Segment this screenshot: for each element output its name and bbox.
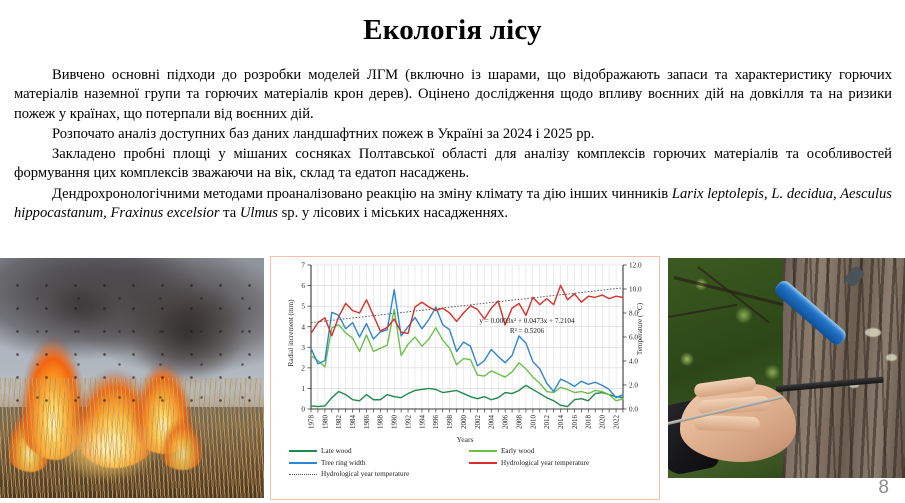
legend-item-hydro-temp: Hydrological year temperature — [469, 459, 649, 467]
paragraph-2: Розпочато аналіз доступних баз даних лан… — [14, 125, 892, 144]
svg-text:2012: 2012 — [543, 415, 551, 430]
media-row: 01234567 0.02.04.06.08.010.012.0 1978198… — [0, 258, 905, 503]
ember-particles — [0, 268, 264, 413]
svg-text:1992: 1992 — [404, 415, 412, 430]
dendrochronology-chart-panel: 01234567 0.02.04.06.08.010.012.0 1978198… — [270, 256, 660, 500]
legend-label-early-wood: Early wood — [501, 447, 534, 455]
legend-item-early-wood: Early wood — [469, 447, 649, 455]
page-title: Екологія лісу — [0, 14, 905, 47]
svg-text:4: 4 — [301, 323, 305, 331]
legend-swatch-hydro-temp — [469, 462, 497, 464]
regression-equation: y = 0.0003x² + 0.0473x + 7.2104 — [447, 317, 607, 327]
legend-label-hydro-temp: Hydrological year temperature — [501, 459, 589, 467]
lichen-patch — [886, 354, 897, 361]
legend-item-hydro-temp-trend: Hydrological year temperature — [289, 470, 649, 478]
chart-equation-annotation: y = 0.0003x² + 0.0473x + 7.2104 R² = 0.5… — [447, 317, 607, 336]
y2-axis-title: Temperature ( °C) — [636, 269, 644, 389]
svg-text:1990: 1990 — [391, 415, 399, 430]
lichen-patch — [865, 328, 881, 337]
x-axis-title: Years — [271, 435, 659, 444]
finger — [694, 415, 760, 432]
legend-item-tree-ring-width: Tree ring width — [289, 459, 469, 467]
svg-text:1986: 1986 — [363, 415, 371, 430]
svg-text:2008: 2008 — [515, 415, 523, 430]
svg-text:0: 0 — [301, 406, 305, 414]
svg-text:2002: 2002 — [474, 415, 482, 430]
increment-borer-photo — [668, 258, 905, 478]
svg-text:1982: 1982 — [335, 415, 343, 430]
legend-swatch-early-wood — [469, 450, 497, 452]
legend-row-2: Tree ring width Hydrological year temper… — [289, 459, 649, 467]
paragraph-1: Вивчено основні підходи до розробки моде… — [14, 66, 892, 124]
legend-swatch-hydro-temp-trend — [289, 474, 317, 475]
svg-text:7: 7 — [301, 262, 305, 270]
y-axis-tick-labels: 01234567 — [301, 262, 305, 414]
svg-text:2016: 2016 — [571, 415, 579, 430]
paragraph-4-mid: та — [220, 205, 240, 221]
page-number: 8 — [878, 477, 889, 499]
legend-label-hydro-temp-trend: Hydrological year temperature — [321, 470, 409, 478]
svg-text:2: 2 — [301, 364, 305, 372]
svg-text:2018: 2018 — [585, 415, 593, 430]
body-text-block: Вивчено основні підходи до розробки моде… — [14, 66, 892, 223]
svg-text:2020: 2020 — [599, 415, 607, 430]
svg-text:1980: 1980 — [321, 415, 329, 430]
legend-swatch-tree-ring-width — [289, 462, 317, 464]
paragraph-4: Дендрохронологічними методами проаналізо… — [14, 185, 892, 224]
paragraph-3: Закладено пробні площі у мішаних сосняка… — [14, 145, 892, 184]
chart-inner: 01234567 0.02.04.06.08.010.012.0 1978198… — [271, 257, 659, 499]
r-squared-value: R² = 0.5206 — [447, 327, 607, 337]
svg-text:1994: 1994 — [418, 415, 426, 430]
svg-text:2010: 2010 — [529, 415, 537, 430]
legend-item-late-wood: Late wood — [289, 447, 469, 455]
svg-text:2000: 2000 — [460, 415, 468, 430]
legend-row-3: Hydrological year temperature — [289, 470, 649, 478]
paragraph-4-lead: Дендрохронологічними методами проаналізо… — [52, 186, 672, 202]
svg-text:1984: 1984 — [349, 415, 357, 430]
x-axis-tick-labels: 1978198019821984198619881990199219941996… — [307, 415, 620, 430]
chart-svg: 01234567 0.02.04.06.08.010.012.0 1978198… — [271, 257, 661, 439]
y-axis-title: Radial increment (mm) — [287, 273, 295, 393]
slide-root: Екологія лісу Вивчено основні підходи до… — [0, 0, 905, 503]
grassland-wildfire-photo — [0, 258, 264, 498]
tree-trunk — [783, 258, 905, 478]
chart-legend: Late wood Early wood Tree ring width — [289, 447, 649, 482]
svg-text:0.0: 0.0 — [629, 406, 638, 414]
svg-text:1996: 1996 — [432, 415, 440, 430]
legend-label-tree-ring-width: Tree ring width — [321, 459, 365, 467]
svg-text:1998: 1998 — [446, 415, 454, 430]
svg-text:2014: 2014 — [557, 415, 565, 430]
svg-text:5: 5 — [301, 303, 305, 311]
legend-row-1: Late wood Early wood — [289, 447, 649, 455]
species-name-2: Ulmus — [240, 205, 278, 221]
svg-text:2004: 2004 — [488, 415, 496, 430]
legend-swatch-late-wood — [289, 450, 317, 452]
svg-text:1: 1 — [301, 385, 305, 393]
svg-text:2022: 2022 — [612, 415, 620, 430]
svg-text:2006: 2006 — [502, 415, 510, 430]
svg-text:1988: 1988 — [377, 415, 385, 430]
legend-label-late-wood: Late wood — [321, 447, 352, 455]
svg-text:1978: 1978 — [307, 415, 315, 430]
chart-gridlines — [311, 265, 623, 409]
svg-text:3: 3 — [301, 344, 305, 352]
paragraph-4-tail: sp. у лісових і міських насадженнях. — [278, 205, 508, 221]
svg-text:6: 6 — [301, 282, 305, 290]
